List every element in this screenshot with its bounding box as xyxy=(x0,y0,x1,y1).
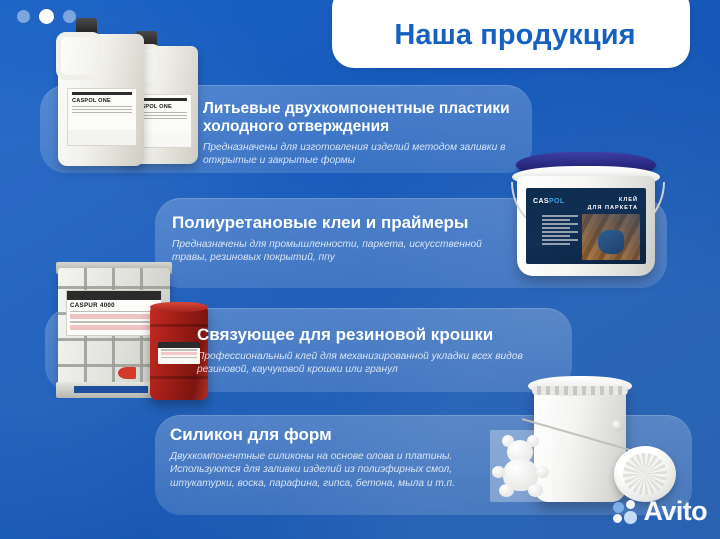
bucket-brand-label: CASPOL xyxy=(533,198,565,205)
bear-silicone-mold xyxy=(490,430,552,502)
carousel-pagination[interactable] xyxy=(17,9,76,24)
product-card-2-text: Полиуретановые клеи и праймеры Предназна… xyxy=(172,213,517,265)
card-1-subtitle: Предназначены для изготовления изделий м… xyxy=(203,141,528,168)
product-image-canisters: CASPOL ONE CASPOL ONE xyxy=(58,28,226,176)
card-1-title: Литьевые двухкомпонентные пластики холод… xyxy=(203,100,528,136)
bucket-product-name: КЛЕЙ ДЛЯ ПАРКЕТА xyxy=(587,196,638,213)
card-2-title: Полиуретановые клеи и праймеры xyxy=(172,213,517,233)
canister-brand-label-2: CASPOL ONE xyxy=(72,98,132,104)
product-card-4-text: Силикон для форм Двухкомпонентные силико… xyxy=(170,425,515,490)
avito-watermark: Avito xyxy=(613,496,708,527)
product-card-3-text: Связующее для резиновой крошки Профессио… xyxy=(197,325,537,377)
pagination-dot-3[interactable] xyxy=(63,10,76,23)
product-showcase-banner: Наша продукция CASPOL ONE CASPOL ONE xyxy=(0,0,720,539)
card-3-title: Связующее для резиновой крошки xyxy=(197,325,537,345)
tote-brand-label: CASPUR 4000 xyxy=(70,302,158,309)
product-card-1-text: Литьевые двухкомпонентные пластики холод… xyxy=(203,100,528,168)
card-2-subtitle: Предназначены для промышленности, паркет… xyxy=(172,238,517,265)
pagination-dot-2-active[interactable] xyxy=(39,9,54,24)
round-silicone-mold xyxy=(614,446,676,502)
product-image-ibc-tote-drum: CASPUR 4000 xyxy=(58,258,208,406)
avito-dots-icon xyxy=(613,500,639,524)
card-4-title: Силикон для форм xyxy=(170,425,515,445)
pagination-dot-1[interactable] xyxy=(17,10,30,23)
product-image-parquet-glue-bucket: CASPOL КЛЕЙ ДЛЯ ПАРКЕТА xyxy=(510,152,662,280)
page-title: Наша продукция xyxy=(350,14,680,56)
card-4-subtitle: Двухкомпонентные силиконы на основе олов… xyxy=(170,450,515,490)
avito-wordmark: Avito xyxy=(644,496,708,527)
